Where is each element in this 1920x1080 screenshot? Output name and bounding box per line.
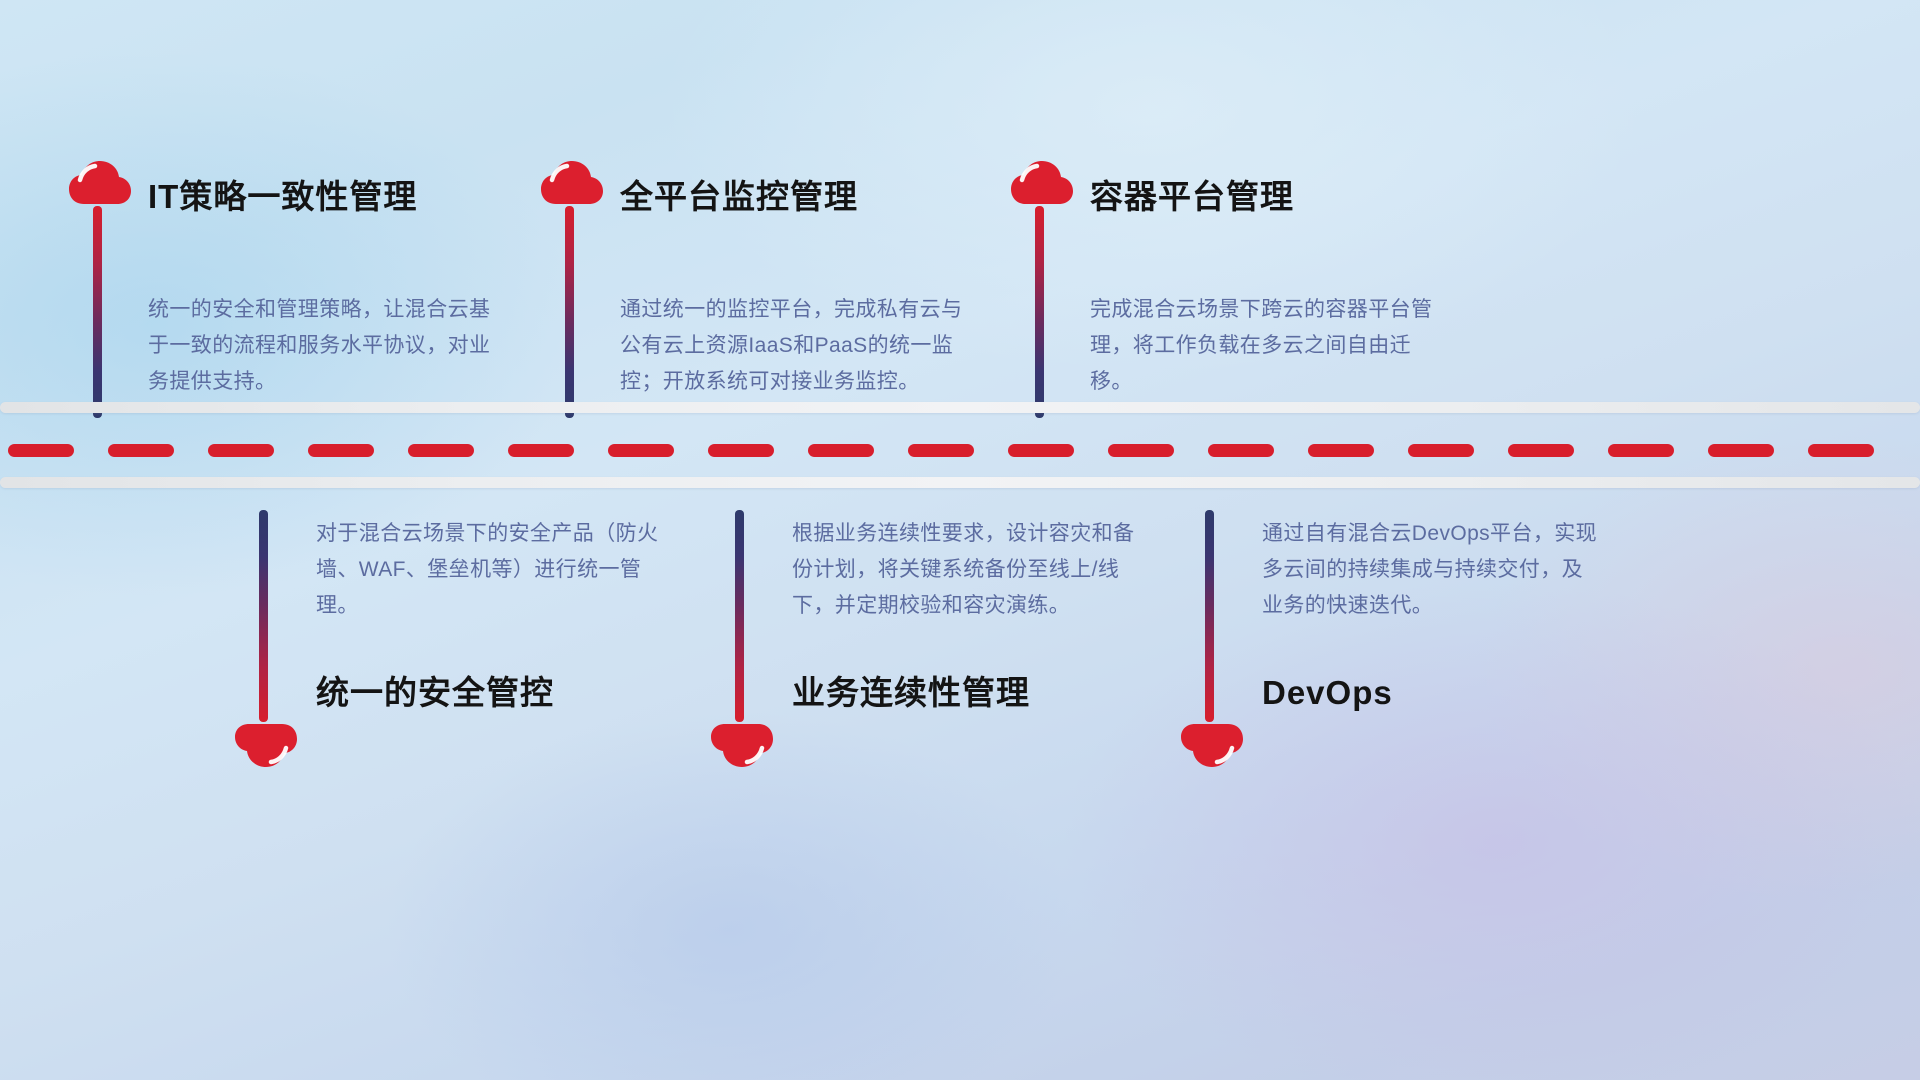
- divider-dash: [1608, 444, 1674, 457]
- feature-column-full-platform-monitoring: [568, 160, 604, 418]
- divider-dash: [1208, 444, 1274, 457]
- divider-dash: [208, 444, 274, 457]
- feature-title-business-continuity: 业务连续性管理: [792, 676, 1030, 709]
- cloud-icon: [234, 722, 298, 768]
- divider-dashed-line: [0, 443, 1920, 457]
- cloud-icon: [1010, 160, 1074, 206]
- connector-stem: [565, 206, 574, 418]
- divider-dash: [8, 444, 74, 457]
- divider-dash: [1408, 444, 1474, 457]
- feature-description-unified-security: 对于混合云场景下的安全产品（防火墙、WAF、堡垒机等）进行统一管理。: [316, 516, 666, 624]
- divider-dash: [908, 444, 974, 457]
- cloud-icon: [1180, 722, 1244, 768]
- feature-title-unified-security: 统一的安全管控: [316, 676, 554, 709]
- divider-dash: [1808, 444, 1874, 457]
- connector-stem: [259, 510, 268, 722]
- divider-dash: [608, 444, 674, 457]
- connector-stem: [1205, 510, 1214, 722]
- divider-dash: [408, 444, 474, 457]
- feature-title-full-platform-monitoring: 全平台监控管理: [620, 180, 858, 213]
- feature-description-it-policy-consistency: 统一的安全和管理策略，让混合云基于一致的流程和服务水平协议，对业务提供支持。: [148, 292, 498, 400]
- connector-stem: [93, 206, 102, 418]
- cloud-icon: [68, 160, 132, 206]
- feature-description-full-platform-monitoring: 通过统一的监控平台，完成私有云与公有云上资源IaaS和PaaS的统一监控；开放系…: [620, 292, 980, 400]
- feature-column-container-platform: [1038, 160, 1074, 418]
- divider-bar-bottom: [0, 477, 1920, 488]
- divider-dash: [1108, 444, 1174, 457]
- feature-description-business-continuity: 根据业务连续性要求，设计容灾和备份计划，将关键系统备份至线上/线下，并定期校验和…: [792, 516, 1147, 624]
- feature-title-it-policy-consistency: IT策略一致性管理: [148, 180, 417, 213]
- connector-stem: [1035, 206, 1044, 418]
- feature-title-devops: DevOps: [1262, 676, 1393, 709]
- divider-dash: [308, 444, 374, 457]
- divider-dash: [1008, 444, 1074, 457]
- divider-dash: [708, 444, 774, 457]
- divider-dash: [1708, 444, 1774, 457]
- divider-dash: [808, 444, 874, 457]
- divider-dash: [508, 444, 574, 457]
- feature-column-unified-security: [262, 510, 298, 768]
- feature-column-it-policy-consistency: [96, 160, 132, 418]
- divider-dash: [108, 444, 174, 457]
- cloud-icon: [540, 160, 604, 206]
- divider-dash: [1508, 444, 1574, 457]
- feature-title-container-platform: 容器平台管理: [1090, 180, 1294, 213]
- feature-description-container-platform: 完成混合云场景下跨云的容器平台管理，将工作负载在多云之间自由迁移。: [1090, 292, 1445, 400]
- cloud-icon: [710, 722, 774, 768]
- feature-description-devops: 通过自有混合云DevOps平台，实现多云间的持续集成与持续交付，及业务的快速迭代…: [1262, 516, 1602, 624]
- divider-dash: [1308, 444, 1374, 457]
- connector-stem: [735, 510, 744, 722]
- divider-bar-top: [0, 402, 1920, 413]
- feature-column-business-continuity: [738, 510, 774, 768]
- feature-column-devops: [1208, 510, 1244, 768]
